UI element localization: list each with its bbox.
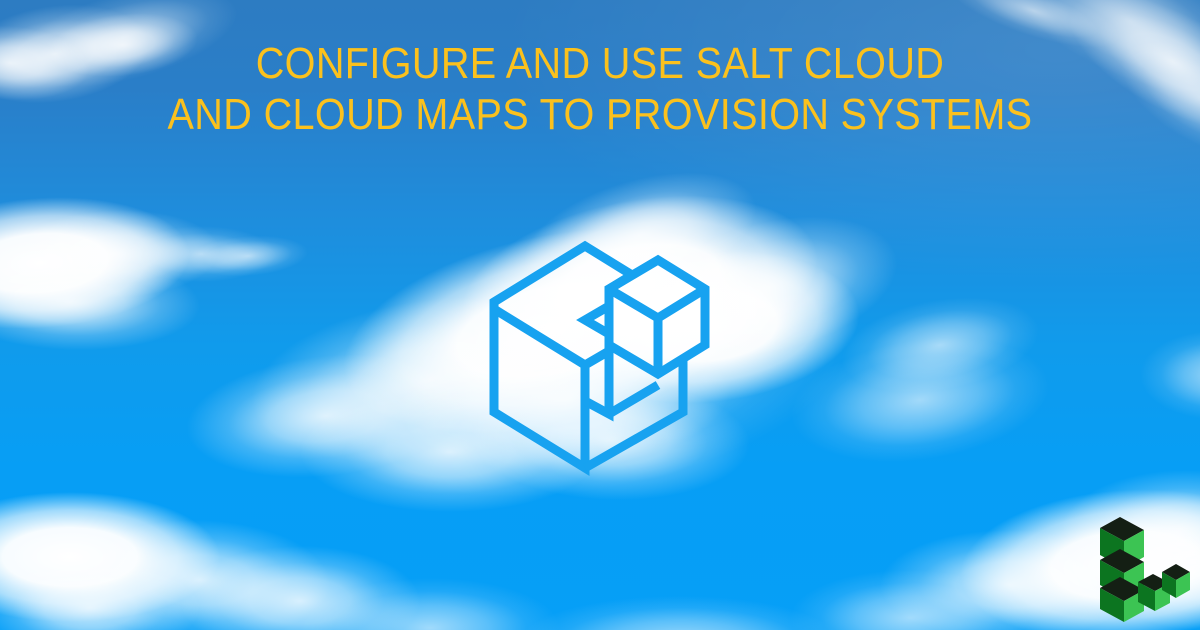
isometric-cube-outline-icon (472, 218, 732, 480)
banner-title: CONFIGURE AND USE SALT CLOUD AND CLOUD M… (0, 38, 1200, 140)
brand-logo[interactable] (1086, 510, 1190, 622)
title-line-2: AND CLOUD MAPS TO PROVISION SYSTEMS (60, 89, 1140, 140)
green-cubes-logo-icon (1086, 510, 1190, 622)
isometric-cube-svg (472, 218, 732, 480)
title-line-1: CONFIGURE AND USE SALT CLOUD (60, 38, 1140, 89)
salt-cloud-banner: CONFIGURE AND USE SALT CLOUD AND CLOUD M… (0, 0, 1200, 630)
